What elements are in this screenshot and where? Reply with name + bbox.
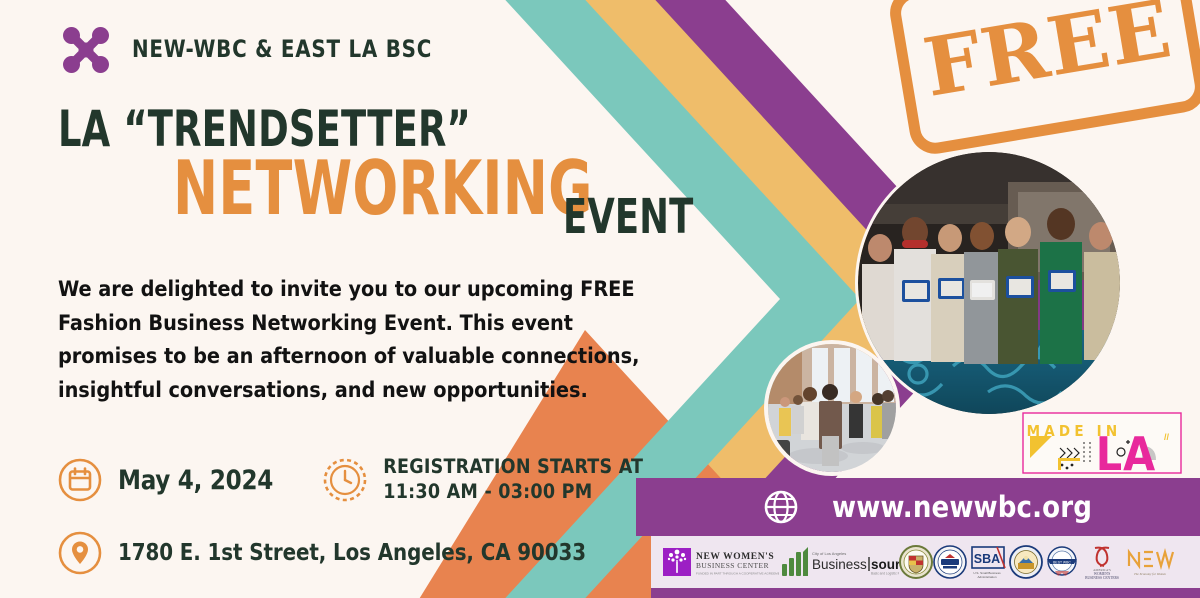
new-womens-business-center-logo: NEW WOMEN'S BUSINESS CENTER FUNDED IN PA…	[661, 541, 779, 583]
award-ribbon-seal-logo: BEST WBC	[1043, 541, 1081, 583]
event-address: 1780 E. 1st Street, Los Angeles, CA 9003…	[118, 540, 586, 566]
website-bar: www.newwbc.org	[636, 478, 1200, 536]
new-logo: The Economy for Women	[1123, 541, 1177, 583]
free-stamp: FREE	[886, 0, 1200, 158]
svg-text:source: source	[871, 557, 899, 572]
location-pin-icon	[58, 531, 102, 575]
body-paragraph: We are delighted to invite you to our up…	[58, 273, 643, 407]
event-flyer: NEW-WBC & EAST LA BSC LA “TRENDSETTER” N…	[0, 0, 1200, 598]
svg-text:BUSINESS CENTER: BUSINESS CENTER	[696, 561, 769, 570]
svg-text:FUNDED IN PART THROUGH A COOPE: FUNDED IN PART THROUGH A COOPERATIVE AGR…	[696, 572, 779, 576]
svg-text:Basic and Logistic Regional: Basic and Logistic Regional	[871, 572, 899, 576]
award-recipients-group-photo	[858, 152, 1120, 414]
svg-text:The Economy for Women: The Economy for Women	[1134, 572, 1166, 576]
event-date: May 4, 2024	[118, 465, 273, 496]
networking-crowd-photo	[768, 344, 896, 472]
free-stamp-label: FREE	[886, 0, 1200, 158]
event-details: May 4, 2024 REGISTRATION STARTS AT 11:30…	[58, 455, 680, 575]
brand-row: NEW-WBC & EAST LA BSC	[58, 18, 680, 80]
womens-business-centers-logo: AMERICA'S WOMEN'S BUSINESS CENTERS	[1081, 541, 1123, 583]
time-group: REGISTRATION STARTS AT 11:30 AM - 03:00 …	[323, 455, 680, 505]
svg-text:BEST WBC: BEST WBC	[1053, 560, 1071, 564]
la-text: LA	[1096, 427, 1156, 480]
partner-logo-bar: NEW WOMEN'S BUSINESS CENTER FUNDED IN PA…	[651, 536, 1200, 588]
headline-line-2: NETWORKING	[173, 154, 579, 223]
county-seal-logo	[1009, 541, 1043, 583]
svg-text:SBA: SBA	[974, 552, 1000, 566]
headline: LA “TRENDSETTER” NETWORKING EVENT	[58, 106, 680, 239]
svg-text:Business: Business	[812, 557, 867, 572]
globe-icon	[764, 490, 798, 524]
time-range: 11:30 AM - 03:00 PM	[383, 480, 592, 503]
date-time-row: May 4, 2024 REGISTRATION STARTS AT 11:30…	[58, 455, 680, 505]
calendar-icon	[58, 458, 102, 502]
footer-accent-strip	[651, 588, 1200, 598]
sba-logo: SBA U.S. Small Business Administration	[967, 541, 1009, 583]
svg-text://: //	[1164, 432, 1170, 442]
registration-label: REGISTRATION STARTS AT	[383, 455, 643, 478]
svg-text:BUSINESS CENTERS: BUSINESS CENTERS	[1085, 576, 1119, 580]
website-url[interactable]: www.newwbc.org	[832, 490, 1092, 524]
brand-name: NEW-WBC & EAST LA BSC	[132, 35, 432, 63]
x-cross-dots-icon	[58, 21, 114, 77]
made-in-la-badge: // MADE IN LA	[1022, 412, 1182, 480]
business-source-logo: City of Los Angeles Business source Basi…	[779, 541, 899, 583]
address-row: 1780 E. 1st Street, Los Angeles, CA 9003…	[58, 531, 680, 575]
headline-line-3: EVENT	[563, 195, 659, 239]
svg-text:Administration: Administration	[977, 575, 996, 579]
city-of-la-seal-logo	[899, 541, 933, 583]
left-content-column: NEW-WBC & EAST LA BSC LA “TRENDSETTER” N…	[0, 0, 680, 598]
blue-seal-logo	[933, 541, 967, 583]
svg-text:City of Los Angeles: City of Los Angeles	[812, 551, 846, 556]
clock-icon	[323, 458, 367, 502]
